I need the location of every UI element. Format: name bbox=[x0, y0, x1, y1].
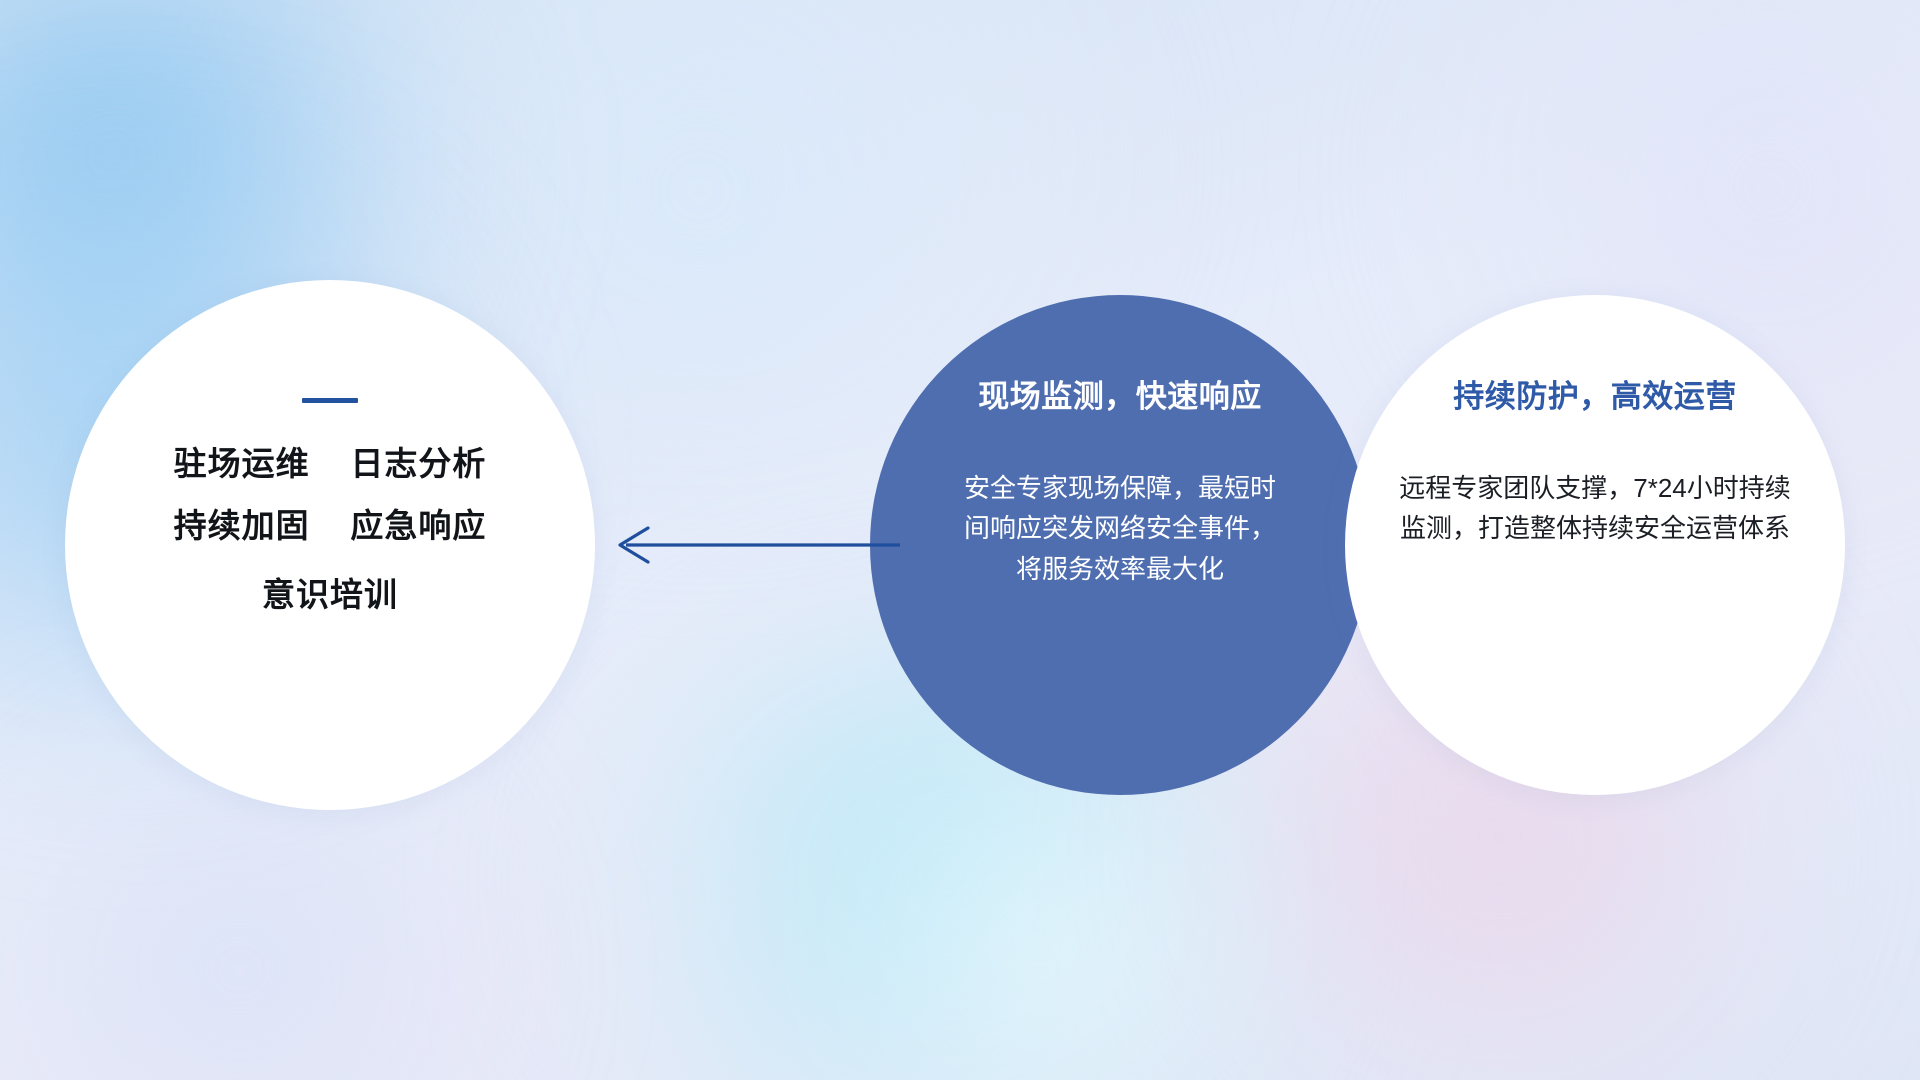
right-circle-title: 持续防护，高效运营 bbox=[1453, 371, 1737, 416]
leftward-flow-arrow-icon bbox=[600, 520, 900, 570]
right-continuous-circle[interactable]: 持续防护，高效运营 远程专家团队支撑，7*24小时持续监测，打造整体持续安全运营… bbox=[1345, 295, 1845, 795]
left-circle-keyword-list: 驻场运维 日志分析 持续加固 应急响应 意识培训 bbox=[65, 447, 595, 611]
left-circle-line-3: 意识培训 bbox=[65, 578, 595, 611]
left-circle-line-1: 驻场运维 日志分析 bbox=[65, 447, 595, 480]
middle-onsite-circle[interactable]: 现场监测，快速响应 安全专家现场保障，最短时间响应突发网络安全事件，将服务效率最… bbox=[870, 295, 1370, 795]
left-circle-line-2: 持续加固 应急响应 bbox=[65, 509, 595, 542]
diagram-stage: 驻场运维 日志分析 持续加固 应急响应 意识培训 现场监测，快速响应 安全专家现… bbox=[0, 0, 1920, 1080]
middle-circle-title: 现场监测，快速响应 bbox=[978, 371, 1262, 416]
middle-circle-body: 安全专家现场保障，最短时间响应突发网络安全事件，将服务效率最大化 bbox=[955, 468, 1285, 589]
left-services-circle[interactable]: 驻场运维 日志分析 持续加固 应急响应 意识培训 bbox=[65, 280, 595, 810]
accent-dash-divider bbox=[302, 398, 358, 403]
right-circle-body: 远程专家团队支撑，7*24小时持续监测，打造整体持续安全运营体系 bbox=[1395, 468, 1795, 549]
